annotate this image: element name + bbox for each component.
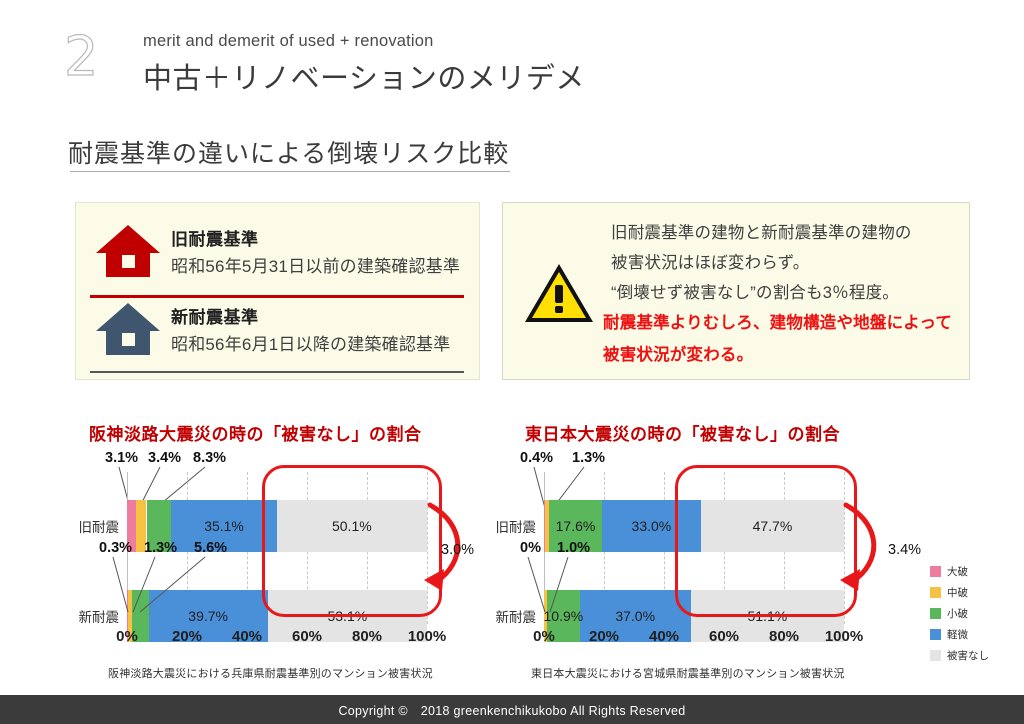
standards-panel: 旧耐震基準 昭和56年5月31日以前の建築確認基準 新耐震基準 昭和56年6月1…: [75, 202, 480, 380]
plot-area-hanshin: 旧耐震 35.1% 50.1% 新耐震 39.7% 53.1% 0.3% 1.3…: [55, 472, 475, 624]
legend-swatch-keibi: [930, 629, 941, 640]
note-panel: 旧耐震基準の建物と新耐震基準の建物の 被害状況はほぼ変わらず。 “倒壊せず被害な…: [502, 202, 970, 380]
slide-number: 2: [64, 30, 98, 84]
chart-legend: 大破 中破 小破 軽微 被害なし: [930, 562, 989, 667]
house-icon-red: [94, 221, 162, 283]
legend-label-higainashi: 被害なし: [947, 648, 989, 663]
legend-item-shoha: 小破: [930, 604, 989, 623]
xtick-hanshin-0: 0%: [116, 628, 138, 645]
legend-swatch-chuha: [930, 587, 941, 598]
standard-desc-new: 昭和56年6月1日以降の建築確認基準: [171, 330, 450, 355]
xtick-higashinihon-80: 80%: [769, 628, 799, 645]
chart-title-hanshin: 阪神淡路大震災の時の「被害なし」の割合: [89, 420, 422, 445]
arrow-label-higashinihon: 3.4%: [888, 542, 921, 558]
section-divider: [70, 171, 510, 172]
standard-desc-old: 昭和56年5月31日以前の建築確認基準: [171, 252, 460, 277]
copyright-text: Copyright © 2018 greenkenchikukobo All R…: [338, 700, 685, 719]
section-title: 耐震基準の違いによる倒壊リスク比較: [68, 134, 509, 170]
header-subtitle-en: merit and demerit of used + renovation: [143, 32, 434, 51]
xtick-higashinihon-60: 60%: [709, 628, 739, 645]
standard-underline-old: [90, 295, 464, 298]
note-line-2: 被害状況はほぼ変わらず。: [611, 249, 809, 273]
chart-higashinihon: 0.4% 1.3% 旧耐震 17.6% 33.0% 47.7% 新耐震: [472, 450, 892, 645]
xtick-hanshin-20: 20%: [172, 628, 202, 645]
legend-label-keibi: 軽微: [947, 627, 968, 642]
standard-name-old: 旧耐震基準: [171, 225, 259, 250]
house-icon-blue: [94, 299, 162, 361]
legend-swatch-daiha: [930, 566, 941, 577]
xtick-higashinihon-40: 40%: [649, 628, 679, 645]
leader-lines-hanshin-new: [55, 472, 475, 624]
caption-hanshin: 阪神淡路大震災における兵庫県耐震基準別のマンション被害状況: [108, 665, 433, 681]
legend-item-daiha: 大破: [930, 562, 989, 581]
note-line-4: 耐震基準よりむしろ、建物構造や地盤によって: [603, 309, 952, 333]
legend-item-chuha: 中破: [930, 583, 989, 602]
arrow-higashinihon: [836, 470, 896, 615]
leader-lines-higashinihon-new: [472, 472, 892, 624]
legend-label-daiha: 大破: [947, 564, 968, 579]
standard-row-new: 新耐震基準 昭和56年6月1日以降の建築確認基準: [76, 299, 479, 377]
note-line-3: “倒壊せず被害なし”の割合も3％程度。: [611, 279, 899, 303]
chart-hanshin: 3.1% 3.4% 8.3% 旧耐震 35.1% 50.1% 新耐震: [55, 450, 475, 645]
standard-row-old: 旧耐震基準 昭和56年5月31日以前の建築確認基準: [76, 221, 479, 299]
note-line-5: 被害状況が変わる。: [603, 341, 753, 365]
footer-bar: Copyright © 2018 greenkenchikukobo All R…: [0, 695, 1024, 724]
xtick-hanshin-100: 100%: [408, 628, 446, 645]
xtick-higashinihon-0: 0%: [533, 628, 555, 645]
note-line-1: 旧耐震基準の建物と新耐震基準の建物の: [611, 219, 912, 243]
plot-area-higashinihon: 旧耐震 17.6% 33.0% 47.7% 新耐震 10.9% 37.0% 51…: [472, 472, 892, 624]
legend-item-higainashi: 被害なし: [930, 646, 989, 665]
legend-item-keibi: 軽微: [930, 625, 989, 644]
chart-title-higashinihon: 東日本大震災の時の「被害なし」の割合: [525, 420, 840, 445]
xtick-hanshin-40: 40%: [232, 628, 262, 645]
xtick-hanshin-60: 60%: [292, 628, 322, 645]
legend-label-chuha: 中破: [947, 585, 968, 600]
arrow-label-hanshin: 3.0%: [441, 542, 474, 558]
legend-swatch-shoha: [930, 608, 941, 619]
legend-swatch-higainashi: [930, 650, 941, 661]
standard-underline-new: [90, 371, 464, 373]
page-title: 中古＋リノベーションのメリデメ: [143, 55, 585, 97]
warning-triangle-icon: [523, 261, 595, 325]
legend-label-shoha: 小破: [947, 606, 968, 621]
xtick-higashinihon-100: 100%: [825, 628, 863, 645]
caption-higashinihon: 東日本大震災における宮城県耐震基準別のマンション被害状況: [531, 665, 845, 681]
standard-name-new: 新耐震基準: [171, 303, 259, 328]
xtick-higashinihon-20: 20%: [589, 628, 619, 645]
xtick-hanshin-80: 80%: [352, 628, 382, 645]
